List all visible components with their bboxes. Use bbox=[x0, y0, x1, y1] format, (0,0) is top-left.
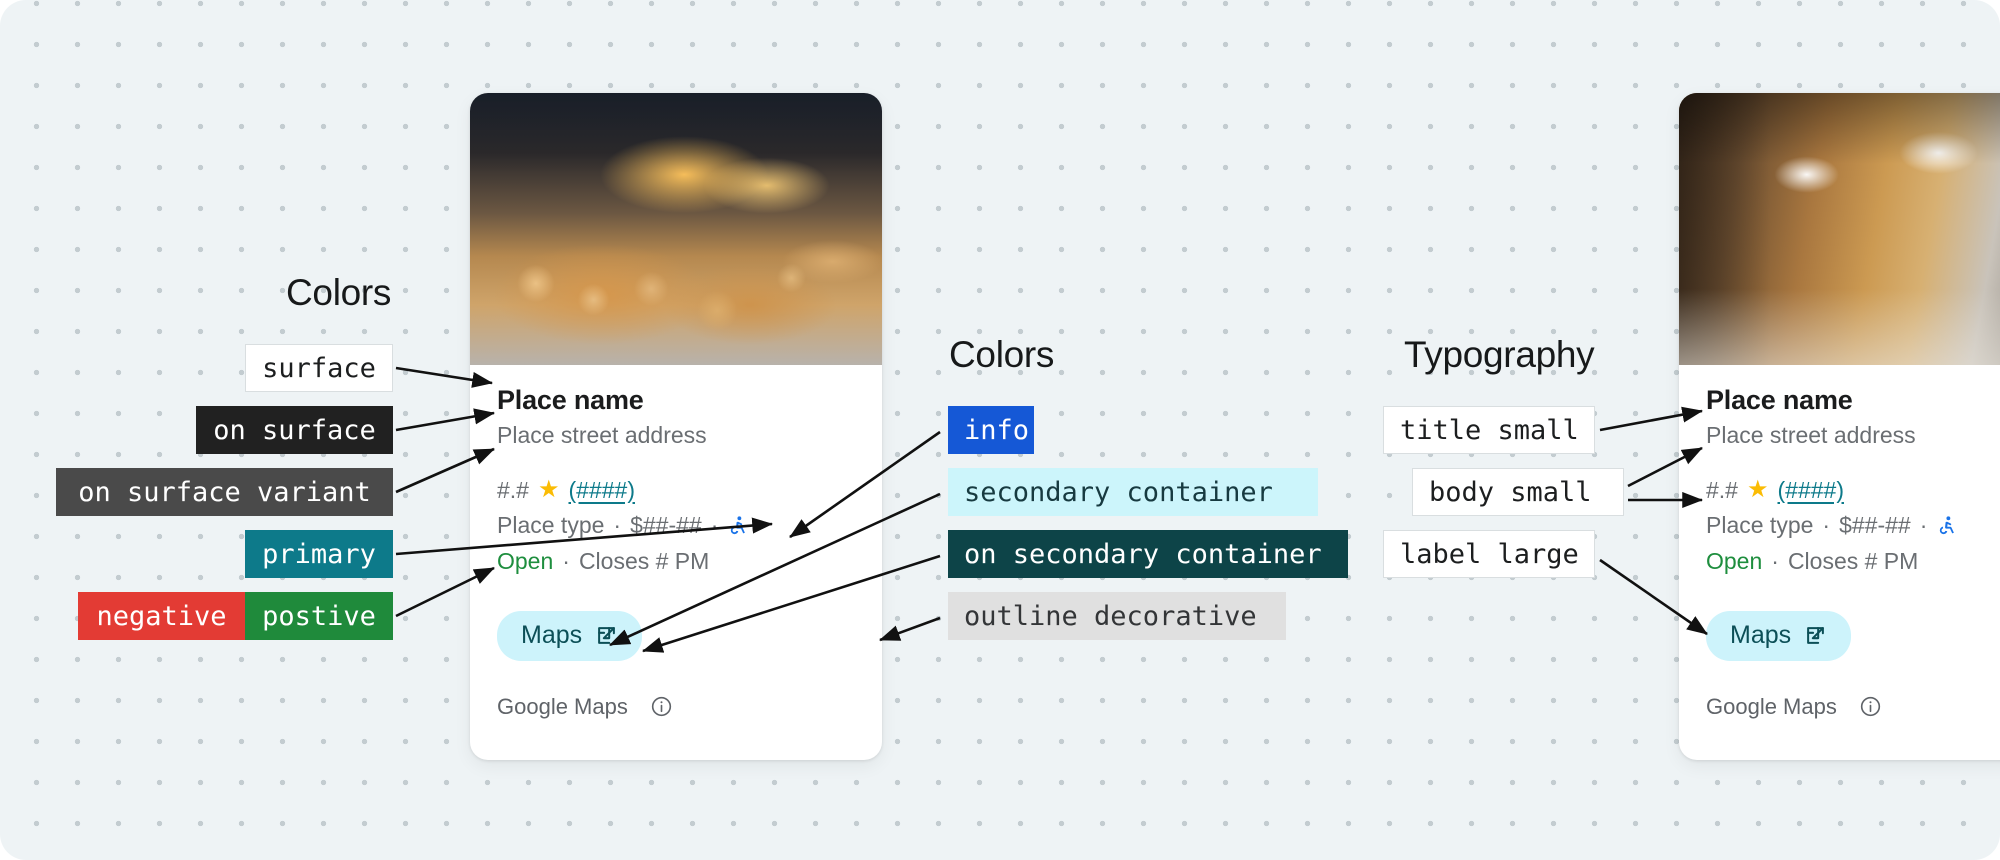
color-token-outline-decorative[interactable]: outline decorative bbox=[948, 592, 1286, 640]
type-token-label: label large bbox=[1400, 541, 1579, 568]
card-footer: Google Maps bbox=[1706, 694, 2000, 720]
bakery-display-photo bbox=[470, 93, 882, 365]
place-hours-row: Open · Closes # PM bbox=[497, 545, 749, 578]
price-range: $##-## bbox=[630, 509, 702, 542]
place-card-right[interactable]: Place name Place street address #.# ★ (#… bbox=[1679, 93, 2000, 760]
meta-separator: · bbox=[1771, 545, 1779, 578]
color-token-label: surface bbox=[262, 355, 376, 382]
type-token-label: body small bbox=[1429, 479, 1592, 506]
meta-separator: · bbox=[1920, 509, 1928, 542]
color-token-negative[interactable]: negative bbox=[78, 592, 245, 640]
place-type: Place type bbox=[497, 509, 604, 542]
type-token-title-small[interactable]: title small bbox=[1383, 406, 1595, 454]
arrow-outline-to-card-edge bbox=[880, 618, 940, 640]
rating-value: #.# bbox=[497, 474, 529, 507]
color-token-info[interactable]: info bbox=[948, 406, 1034, 454]
section-heading-colors-left: Colors bbox=[286, 272, 391, 314]
color-token-label: on surface bbox=[213, 417, 376, 444]
color-token-surface[interactable]: surface bbox=[245, 344, 393, 392]
place-address: Place street address bbox=[497, 422, 855, 450]
open-status: Open bbox=[1706, 545, 1762, 578]
place-name: Place name bbox=[1706, 385, 2000, 416]
color-token-on-surface[interactable]: on surface bbox=[196, 406, 393, 454]
info-icon[interactable] bbox=[1859, 695, 1882, 718]
star-icon: ★ bbox=[538, 478, 560, 502]
color-token-label: outline decorative bbox=[964, 603, 1257, 630]
cafe-interior-photo bbox=[1679, 93, 2000, 365]
color-token-label: on secondary container bbox=[964, 541, 1322, 568]
color-token-label: info bbox=[964, 417, 1029, 444]
color-token-label: postive bbox=[262, 603, 376, 630]
place-type-row: Place type · $##-## · bbox=[497, 509, 749, 542]
design-annotation-canvas: Colors Colors Typography surface on surf… bbox=[0, 0, 2000, 860]
color-token-label: on surface variant bbox=[78, 479, 371, 506]
color-token-on-surface-variant[interactable]: on surface variant bbox=[56, 468, 393, 516]
wheelchair-accessible-icon bbox=[727, 515, 749, 537]
color-token-postive[interactable]: postive bbox=[245, 592, 393, 640]
place-address: Place street address bbox=[1706, 422, 2000, 450]
maps-button-label: Maps bbox=[521, 621, 582, 650]
closing-time: Closes # PM bbox=[1788, 545, 1918, 578]
info-icon[interactable] bbox=[650, 695, 673, 718]
open-in-new-icon bbox=[595, 624, 618, 647]
color-token-primary[interactable]: primary bbox=[245, 530, 393, 578]
card-footer: Google Maps bbox=[497, 694, 855, 720]
closing-time: Closes # PM bbox=[579, 545, 709, 578]
rating-value: #.# bbox=[1706, 474, 1738, 507]
place-rating-row: #.# ★ (####) bbox=[1706, 474, 1958, 507]
maps-button-label: Maps bbox=[1730, 621, 1791, 650]
place-rating-row: #.# ★ (####) bbox=[497, 474, 749, 507]
place-card-body: Place name Place street address #.# ★ (#… bbox=[1679, 365, 2000, 720]
color-token-label: primary bbox=[262, 541, 376, 568]
place-card-left[interactable]: Place name Place street address #.# ★ (#… bbox=[470, 93, 882, 760]
attribution-label: Google Maps bbox=[497, 694, 628, 720]
color-token-on-secondary-container[interactable]: on secondary container bbox=[948, 530, 1348, 578]
section-heading-typography: Typography bbox=[1404, 334, 1594, 376]
place-hours-row: Open · Closes # PM bbox=[1706, 545, 1958, 578]
section-heading-colors-mid: Colors bbox=[949, 334, 1054, 376]
review-count[interactable]: (####) bbox=[569, 474, 635, 507]
place-type-row: Place type · $##-## · bbox=[1706, 509, 1958, 542]
color-token-label: negative bbox=[96, 603, 226, 630]
maps-button[interactable]: Maps bbox=[1706, 611, 1851, 661]
place-card-body: Place name Place street address #.# ★ (#… bbox=[470, 365, 882, 720]
star-icon: ★ bbox=[1747, 478, 1769, 502]
color-token-label: secondary container bbox=[964, 479, 1273, 506]
wheelchair-accessible-icon bbox=[1936, 515, 1958, 537]
meta-separator: · bbox=[562, 545, 570, 578]
type-token-body-small[interactable]: body small bbox=[1412, 468, 1624, 516]
open-in-new-icon bbox=[1804, 624, 1827, 647]
color-token-secondary-container[interactable]: secondary container bbox=[948, 468, 1318, 516]
open-status: Open bbox=[497, 545, 553, 578]
meta-separator: · bbox=[613, 509, 621, 542]
meta-separator: · bbox=[1822, 509, 1830, 542]
meta-separator: · bbox=[711, 509, 719, 542]
type-token-label-large[interactable]: label large bbox=[1383, 530, 1595, 578]
place-meta: #.# ★ (####) Place type · $##-## · bbox=[1706, 474, 2000, 578]
price-range: $##-## bbox=[1839, 509, 1911, 542]
attribution-label: Google Maps bbox=[1706, 694, 1837, 720]
review-count[interactable]: (####) bbox=[1778, 474, 1844, 507]
type-token-label: title small bbox=[1400, 417, 1579, 444]
place-meta: #.# ★ (####) Place type · $##-## · bbox=[497, 474, 855, 578]
place-type: Place type bbox=[1706, 509, 1813, 542]
place-name: Place name bbox=[497, 385, 855, 416]
maps-button[interactable]: Maps bbox=[497, 611, 642, 661]
